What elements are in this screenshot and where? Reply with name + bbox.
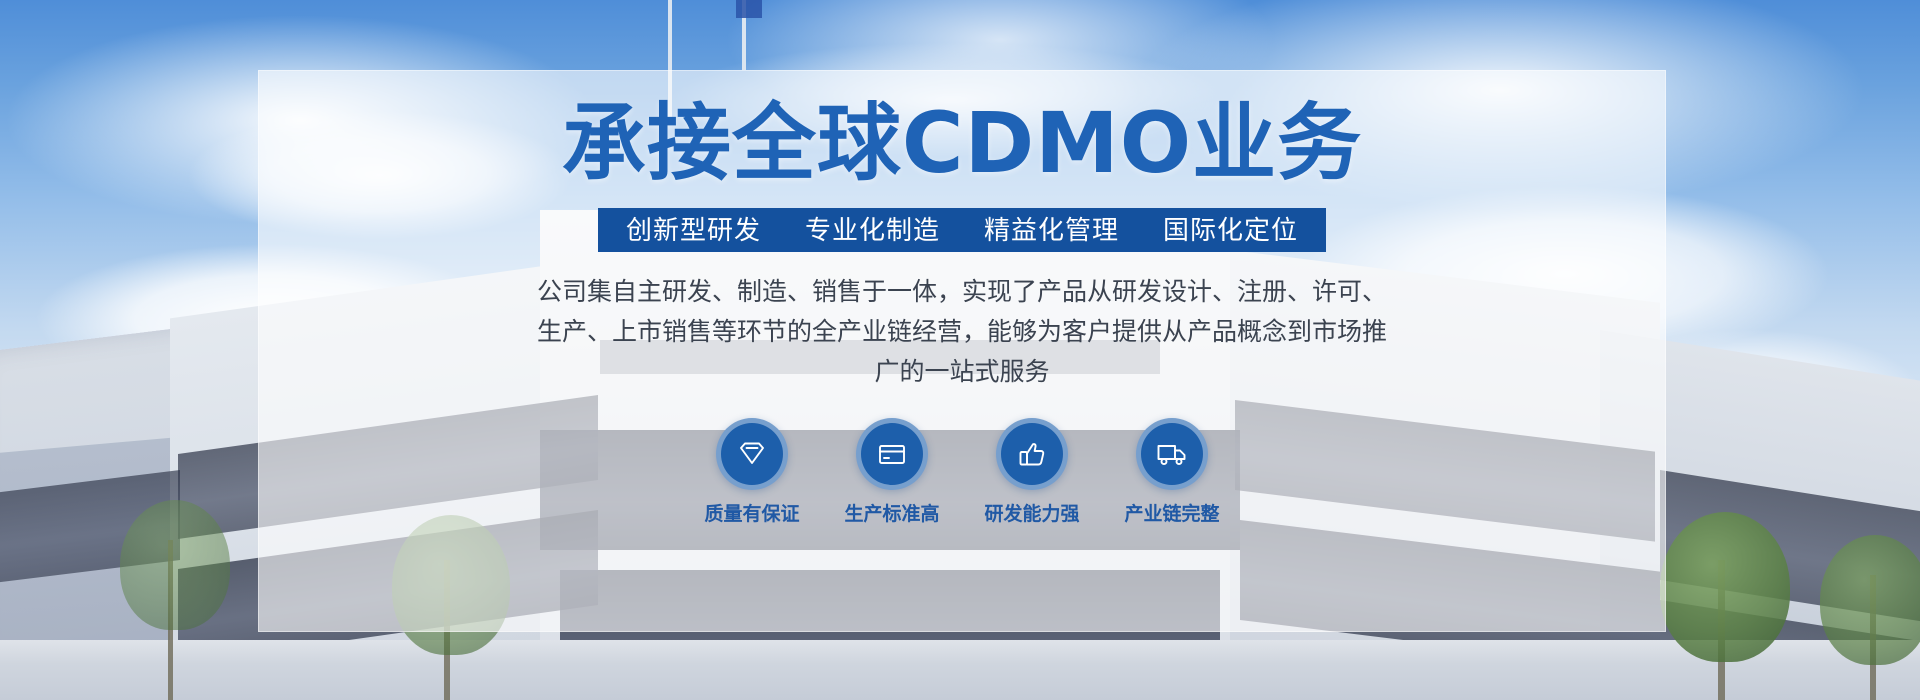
diamond-icon bbox=[716, 418, 788, 490]
banner-content: 承接全球CDMO业务 创新型研发 专业化制造 精益化管理 国际化定位 公司集自主… bbox=[258, 70, 1666, 632]
feature-item-standard[interactable]: 生产标准高 bbox=[822, 418, 962, 526]
feature-item-rnd[interactable]: 研发能力强 bbox=[962, 418, 1102, 526]
feature-label: 质量有保证 bbox=[704, 504, 799, 526]
tagline-bar: 创新型研发 专业化制造 精益化管理 国际化定位 bbox=[598, 208, 1326, 252]
tree bbox=[1660, 512, 1790, 662]
thumbs-up-icon bbox=[996, 418, 1068, 490]
feature-item-quality[interactable]: 质量有保证 bbox=[682, 418, 822, 526]
feature-label: 生产标准高 bbox=[844, 504, 939, 526]
description-paragraph: 公司集自主研发、制造、销售于一体，实现了产品从研发设计、注册、许可、 生产、上市… bbox=[442, 272, 1482, 392]
tree bbox=[120, 500, 230, 630]
truck-icon bbox=[1136, 418, 1208, 490]
card-icon bbox=[856, 418, 928, 490]
description-line-2: 广的一站式服务 bbox=[442, 352, 1482, 392]
feature-list: 质量有保证 生产标准高 bbox=[682, 418, 1242, 526]
tag-item-0: 创新型研发 bbox=[626, 215, 761, 245]
feature-label: 产业链完整 bbox=[1124, 504, 1219, 526]
description-line-0: 公司集自主研发、制造、销售于一体，实现了产品从研发设计、注册、许可、 bbox=[442, 272, 1482, 312]
hero-banner: 承接全球CDMO业务 创新型研发 专业化制造 精益化管理 国际化定位 公司集自主… bbox=[0, 0, 1920, 700]
feature-label: 研发能力强 bbox=[984, 504, 1079, 526]
tree bbox=[1820, 535, 1920, 665]
description-line-1: 生产、上市销售等环节的全产业链经营，能够为客户提供从产品概念到市场推 bbox=[442, 312, 1482, 352]
page-title: 承接全球CDMO业务 bbox=[562, 100, 1362, 186]
tag-item-1: 专业化制造 bbox=[805, 215, 940, 245]
feature-item-chain[interactable]: 产业链完整 bbox=[1102, 418, 1242, 526]
tag-item-3: 国际化定位 bbox=[1163, 215, 1298, 245]
ground bbox=[0, 640, 1920, 700]
tag-item-2: 精益化管理 bbox=[984, 215, 1119, 245]
flag bbox=[736, 0, 762, 18]
